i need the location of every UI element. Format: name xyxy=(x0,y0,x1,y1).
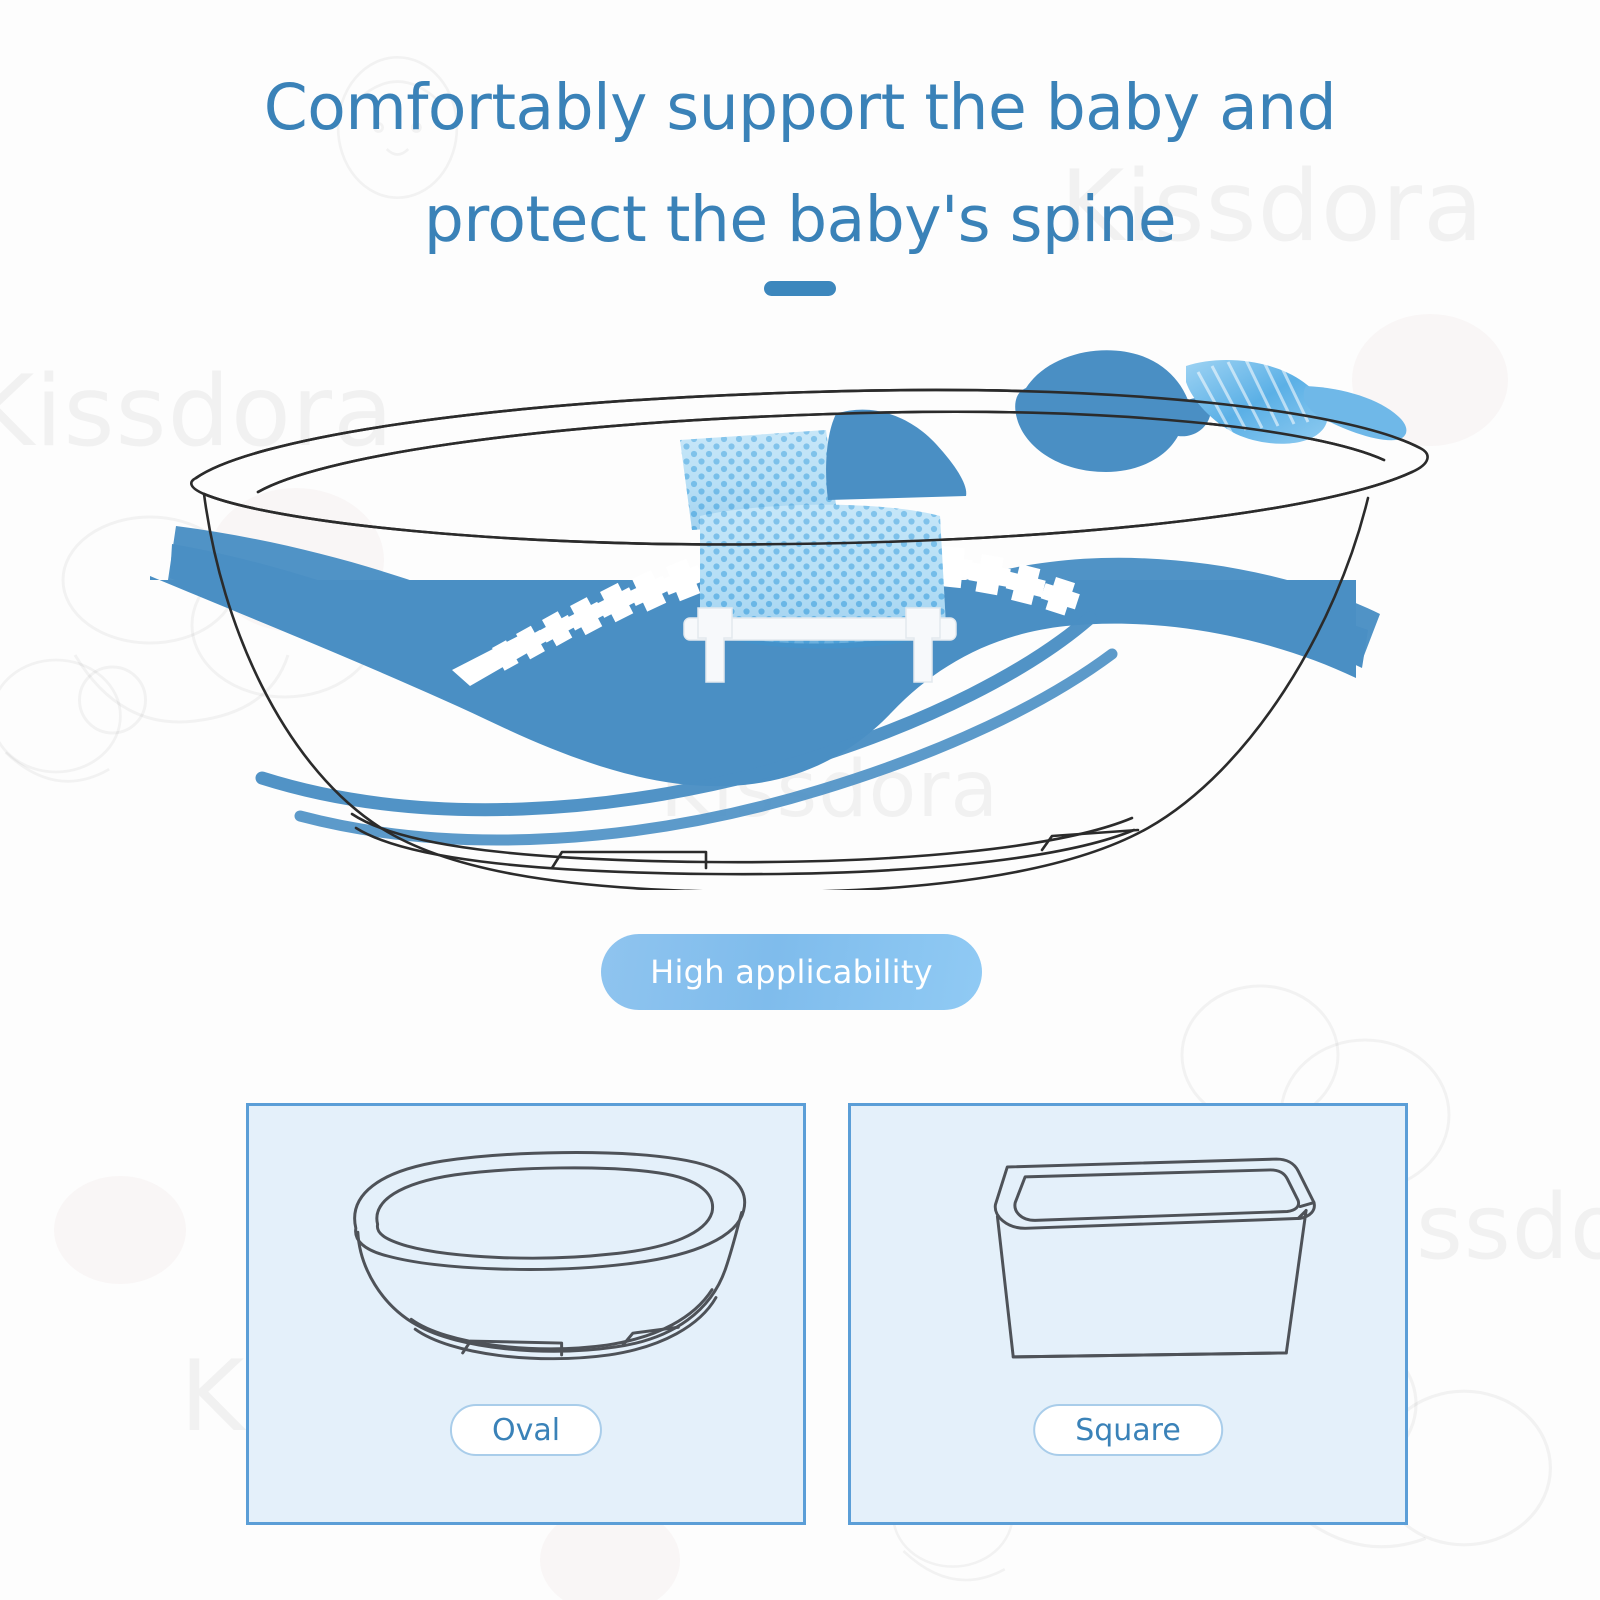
hero-illustration xyxy=(0,330,1600,890)
card-label-square: Square xyxy=(1075,1413,1181,1448)
bathtub-with-net-seat-drawing xyxy=(0,330,1600,890)
oval-tub-icon xyxy=(249,1106,803,1406)
title-line-1: Comfortably support the baby and xyxy=(0,52,1600,164)
applicability-card-oval[interactable]: Oval xyxy=(246,1103,806,1525)
square-tub-icon xyxy=(851,1106,1405,1406)
card-label-oval: Oval xyxy=(492,1413,560,1448)
infographic-page: Kissdora Kissdora Kissdora Kissdora Kiss… xyxy=(0,0,1600,1600)
page-title: Comfortably support the baby and protect… xyxy=(0,52,1600,276)
title-line-2: protect the baby's spine xyxy=(0,164,1600,276)
title-divider xyxy=(764,281,836,296)
card-label-pill-oval: Oval xyxy=(450,1404,602,1456)
high-applicability-badge: High applicability xyxy=(601,934,982,1010)
applicability-card-square[interactable]: Square xyxy=(848,1103,1408,1525)
high-applicability-label: High applicability xyxy=(650,953,933,991)
card-label-pill-square: Square xyxy=(1033,1404,1223,1456)
baby-head-and-pillow xyxy=(826,350,1406,500)
